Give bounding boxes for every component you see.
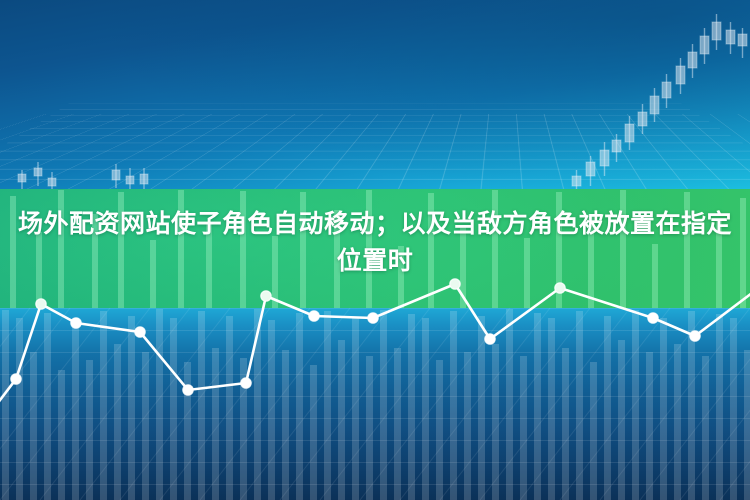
line-chart-marker [368, 313, 378, 323]
line-chart-marker [36, 299, 46, 309]
line-chart-path [0, 284, 750, 408]
line-chart-marker [450, 279, 460, 289]
line-chart-marker [309, 311, 319, 321]
line-chart-marker [555, 283, 565, 293]
banner-image: 场外配资网站使子角色自动移动；以及当敌方角色被放置在指定位置时 [0, 0, 750, 500]
line-chart-marker [183, 385, 193, 395]
line-chart-marker [648, 313, 658, 323]
line-chart-marker [241, 378, 251, 388]
banner-headline: 场外配资网站使子角色自动移动；以及当敌方角色被放置在指定位置时 [0, 205, 750, 279]
line-chart-marker [485, 334, 495, 344]
line-chart-marker [11, 374, 21, 384]
line-chart-marker [261, 291, 271, 301]
line-chart-marker [71, 318, 81, 328]
line-chart-marker [135, 327, 145, 337]
line-chart-markers [11, 279, 700, 395]
line-chart-marker [690, 331, 700, 341]
